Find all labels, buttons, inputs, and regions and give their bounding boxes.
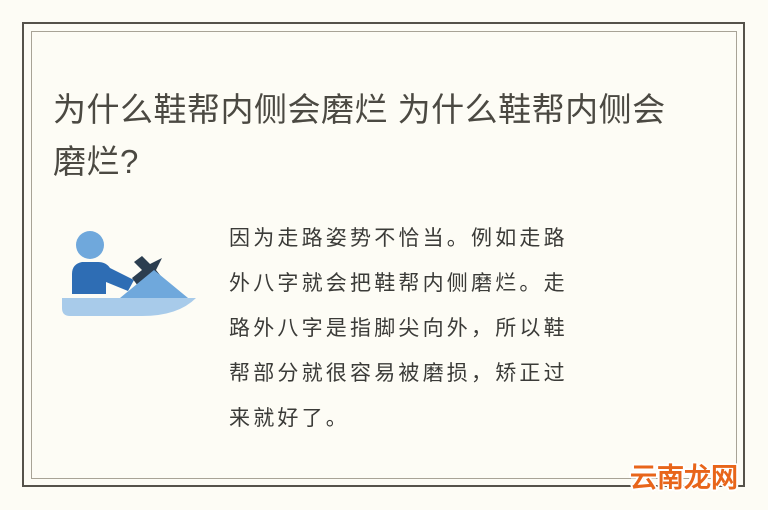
site-watermark: 云南龙网 <box>630 463 738 493</box>
boat-hull-icon <box>62 298 196 316</box>
person-head-icon <box>76 231 104 259</box>
page-title: 为什么鞋帮内侧会磨烂 为什么鞋帮内侧会磨烂? <box>53 84 693 188</box>
article-body: 因为走路姿势不恰当。例如走路 外八字就会把鞋帮内侧磨烂。走 路外八字是指脚尖向外… <box>229 216 649 441</box>
person-in-boat-illustration <box>58 228 198 323</box>
boat-illustration-svg <box>58 228 198 323</box>
person-torso-icon <box>72 262 134 294</box>
page-root: 为什么鞋帮内侧会磨烂 为什么鞋帮内侧会磨烂? 因为走路姿势不恰当。例如走路 外八… <box>0 0 768 510</box>
